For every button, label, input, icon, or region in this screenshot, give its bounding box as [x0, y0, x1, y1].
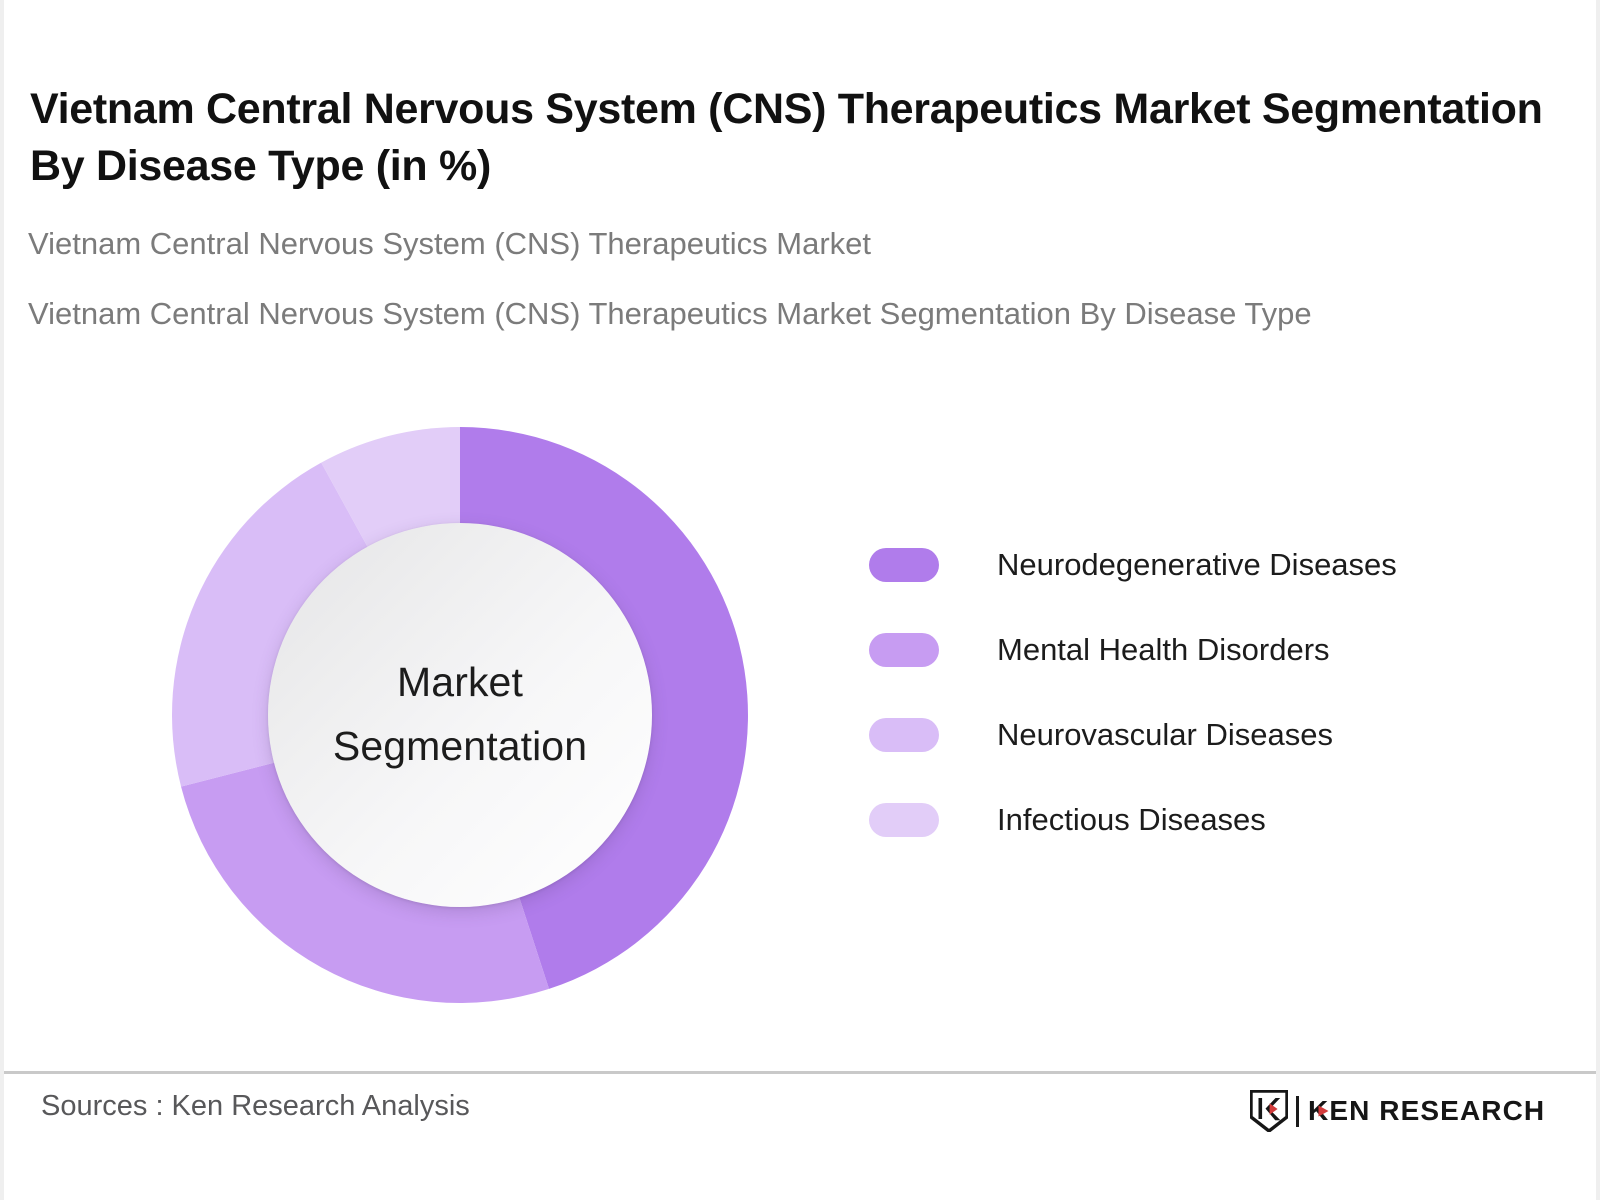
- footer-divider: [4, 1071, 1596, 1074]
- legend-item[interactable]: Neurovascular Diseases: [869, 692, 1509, 777]
- donut-center-label-line-2: Segmentation: [333, 715, 587, 779]
- logo-divider: [1296, 1096, 1299, 1127]
- legend-swatch-icon: [869, 803, 939, 837]
- donut-center-label: Market Segmentation: [268, 523, 652, 907]
- ken-research-wordmark: KEN RESEARCH: [1308, 1095, 1580, 1127]
- svg-text:KEN RESEARCH: KEN RESEARCH: [1308, 1095, 1545, 1126]
- legend-item[interactable]: Mental Health Disorders: [869, 607, 1509, 692]
- donut-center-label-line-1: Market: [397, 651, 523, 715]
- legend-item[interactable]: Neurodegenerative Diseases: [869, 522, 1509, 607]
- footer-sources-text: Sources : Ken Research Analysis: [41, 1090, 470, 1123]
- chart-legend: Neurodegenerative DiseasesMental Health …: [869, 522, 1509, 862]
- legend-item-label: Infectious Diseases: [997, 802, 1266, 838]
- legend-item[interactable]: Infectious Diseases: [869, 777, 1509, 862]
- legend-item-label: Mental Health Disorders: [997, 632, 1330, 668]
- donut-chart: Market Segmentation: [172, 427, 748, 1003]
- legend-item-label: Neurodegenerative Diseases: [997, 547, 1397, 583]
- subtitle-line-1: Vietnam Central Nervous System (CNS) The…: [28, 228, 1548, 259]
- subtitle-line-2: Vietnam Central Nervous System (CNS) The…: [28, 288, 1546, 340]
- legend-item-label: Neurovascular Diseases: [997, 717, 1333, 753]
- infographic-slide: Vietnam Central Nervous System (CNS) The…: [0, 0, 1600, 1200]
- legend-swatch-icon: [869, 718, 939, 752]
- legend-swatch-icon: [869, 633, 939, 667]
- ken-research-logo: KEN RESEARCH: [1250, 1089, 1580, 1133]
- legend-swatch-icon: [869, 548, 939, 582]
- ken-research-shield-icon: [1250, 1090, 1288, 1132]
- page-title: Vietnam Central Nervous System (CNS) The…: [30, 81, 1560, 196]
